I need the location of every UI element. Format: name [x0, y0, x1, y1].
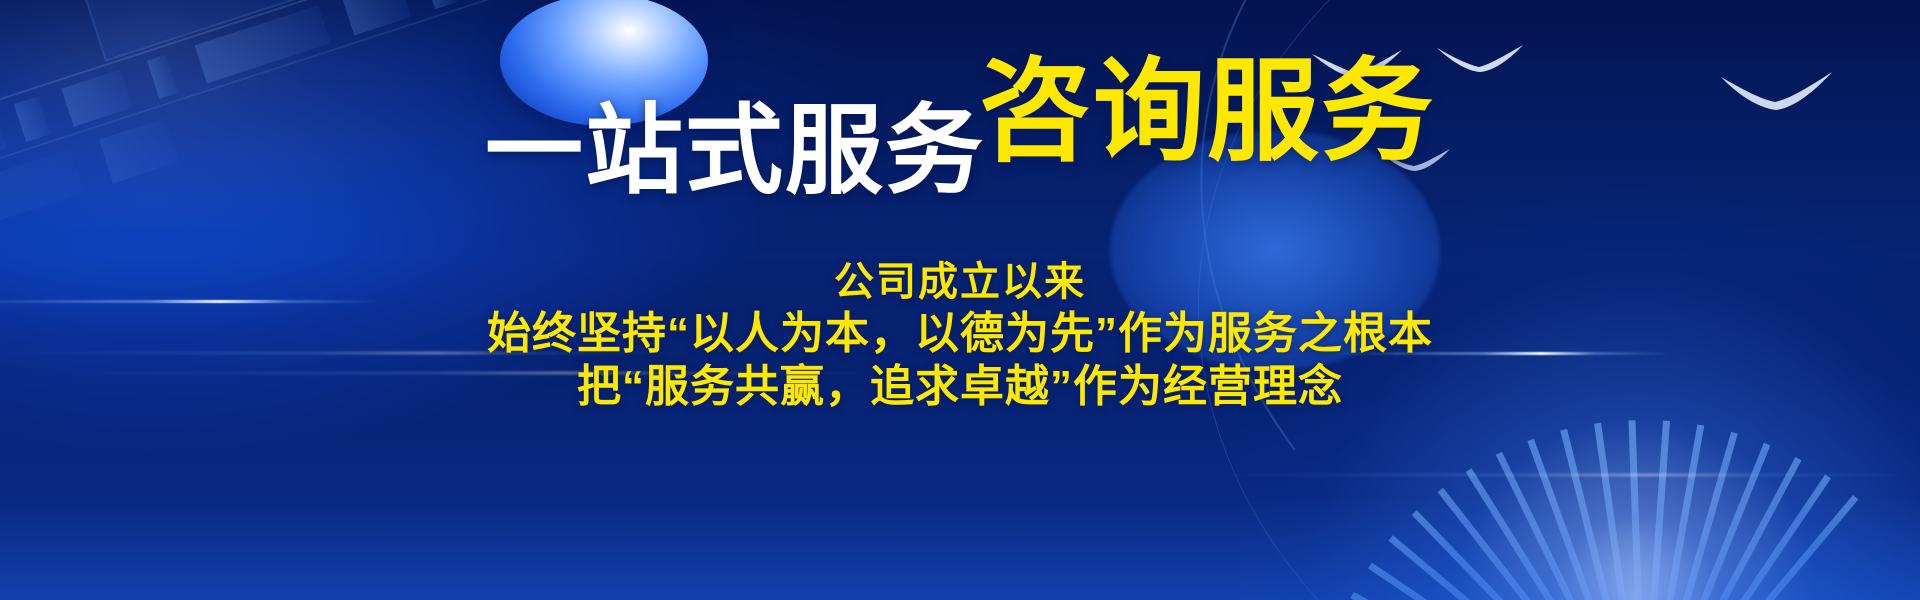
headline-primary: 一站式服务	[485, 95, 985, 205]
headline: 一站式服务咨询服务	[0, 62, 1920, 174]
promotional-banner: 一站式服务咨询服务 公司成立以来 始终坚持“以人为本，以德为先”作为服务之根本 …	[0, 0, 1920, 600]
body-line-2: 始终坚持“以人为本，以德为先”作为服务之根本	[0, 307, 1920, 361]
light-streak-5	[1200, 474, 1920, 476]
body-line-3: 把“服务共赢，追求卓越”作为经营理念	[0, 360, 1920, 414]
headline-accent: 咨询服务	[979, 49, 1435, 174]
body-line-1: 公司成立以来	[0, 258, 1920, 307]
body-copy: 公司成立以来 始终坚持“以人为本，以德为先”作为服务之根本 把“服务共赢，追求卓…	[0, 258, 1920, 414]
